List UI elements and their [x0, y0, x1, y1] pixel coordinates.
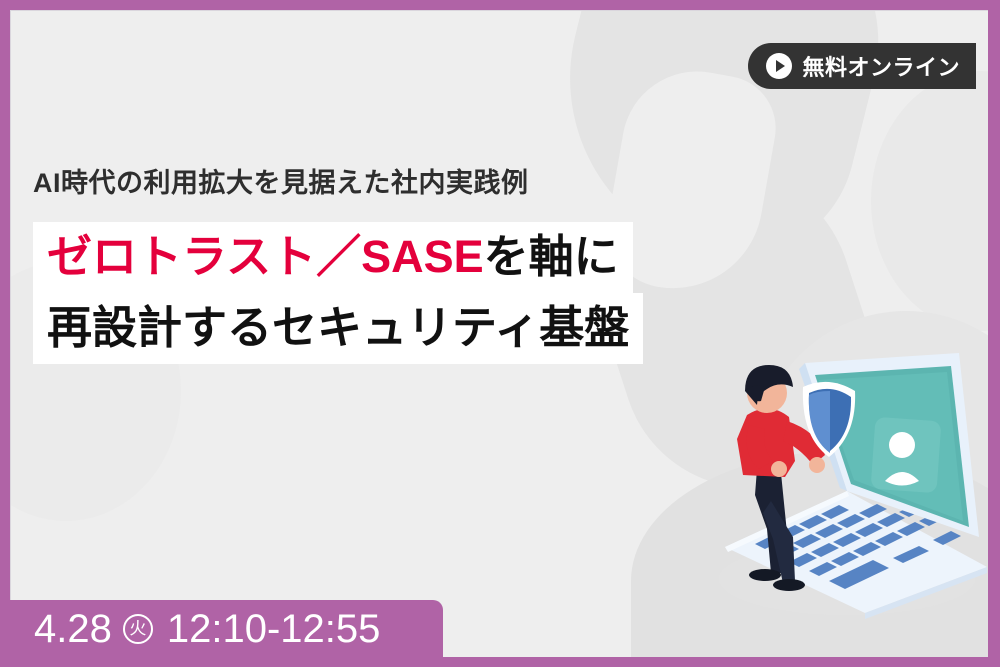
title-line-1: ゼロトラスト／SASEを軸に — [33, 222, 633, 293]
schedule-bar-content: 4.28 火 12:10-12:55 — [0, 609, 380, 649]
event-date: 4.28 — [34, 609, 112, 649]
webinar-poster: 無料オンライン AI時代の利用拡大を見据えた社内実践例 ゼロトラスト／SASEを… — [0, 0, 1000, 667]
event-weekday: 火 — [123, 614, 153, 644]
free-online-badge-label: 無料オンライン — [802, 50, 960, 82]
play-icon — [766, 53, 792, 79]
title-line-1-suffix: を軸に — [484, 231, 619, 282]
poster-content-panel: 無料オンライン AI時代の利用拡大を見据えた社内実践例 ゼロトラスト／SASEを… — [10, 10, 988, 657]
bottom-accent-strip — [0, 657, 1000, 667]
title-line-1-highlight: ゼロトラスト／SASE — [47, 231, 484, 282]
headline-block: AI時代の利用拡大を見据えた社内実践例 ゼロトラスト／SASEを軸に 再設計する… — [33, 161, 643, 364]
free-online-badge: 無料オンライン — [748, 43, 976, 89]
background-watermark-shape — [871, 71, 988, 331]
subtitle: AI時代の利用拡大を見据えた社内実践例 — [33, 161, 643, 200]
event-time-range: 12:10-12:55 — [167, 609, 381, 649]
schedule-bar: 4.28 火 12:10-12:55 — [0, 600, 443, 657]
title-line-2: 再設計するセキュリティ基盤 — [33, 293, 643, 364]
person-holding-shield-at-laptop-illustration — [697, 341, 988, 621]
